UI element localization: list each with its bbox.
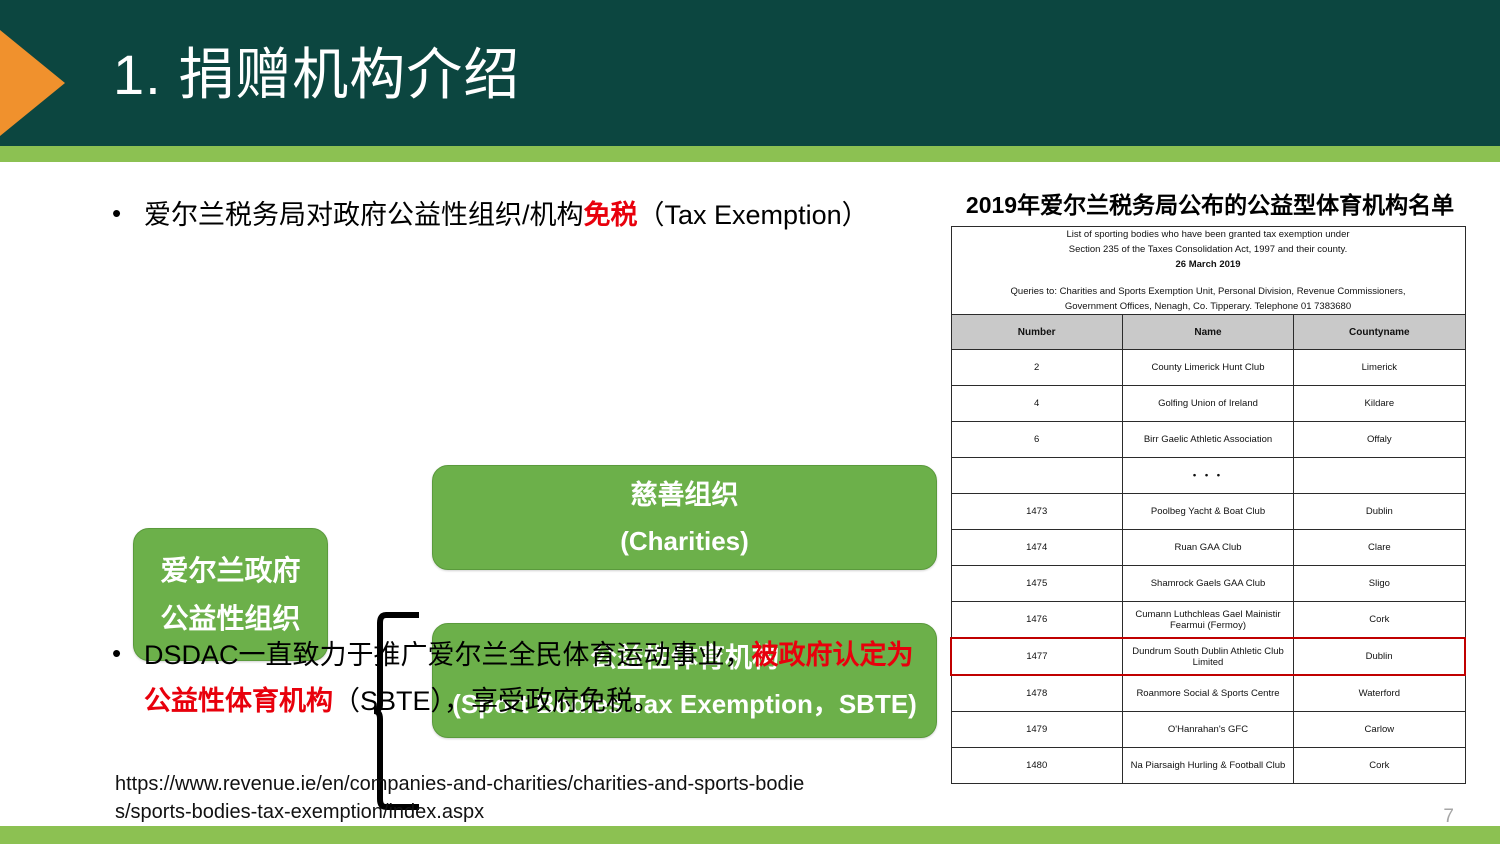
table-row: 1475Shamrock Gaels GAA ClubSligo xyxy=(951,566,1465,602)
cell-number: 2 xyxy=(951,350,1122,386)
cell-name: Poolbeg Yacht & Boat Club xyxy=(1122,494,1293,530)
cell-name: County Limerick Hunt Club xyxy=(1122,350,1293,386)
cell-countyname xyxy=(1294,458,1465,494)
chevron-right-icon xyxy=(0,30,65,136)
cell-countyname: Offaly xyxy=(1294,422,1465,458)
table-row: 6Birr Gaelic Athletic AssociationOffaly xyxy=(951,422,1465,458)
intro-line-2: Section 235 of the Taxes Consolidation A… xyxy=(1069,244,1348,255)
header-accent-bar xyxy=(0,146,1500,162)
bullet1-tail: （Tax Exemption） xyxy=(638,200,869,230)
intro-line-4: Queries to: Charities and Sports Exempti… xyxy=(1011,286,1406,297)
cell-countyname: Kildare xyxy=(1294,386,1465,422)
table-row: • • • xyxy=(951,458,1465,494)
slide-header-band: 1. 捐赠机构介绍 xyxy=(0,0,1500,146)
cell-number: 1474 xyxy=(951,530,1122,566)
table-intro-row: List of sporting bodies who have been gr… xyxy=(951,227,1465,315)
footer-accent-bar xyxy=(0,826,1500,844)
bullet2-tail: （SBTE），享受政府免税。 xyxy=(333,686,660,716)
bullet1-lead: 爱尔兰税务局对政府公益性组织/机构 xyxy=(144,200,584,230)
cell-number: 4 xyxy=(951,386,1122,422)
cell-countyname: Dublin xyxy=(1294,638,1465,675)
cell-name: Cumann Luthchleas Gael Mainistir Fearmui… xyxy=(1122,602,1293,639)
cell-number: 6 xyxy=(951,422,1122,458)
cell-name: Roanmore Social & Sports Centre xyxy=(1122,675,1293,712)
intro-spacer xyxy=(952,272,1465,284)
bullet-text-dsdac: DSDAC一直致力于推广爱尔兰全民体育运动事业，被政府认定为公益性体育机构（SB… xyxy=(144,632,930,724)
cell-name: Golfing Union of Ireland xyxy=(1122,386,1293,422)
bullet1-highlight: 免税 xyxy=(584,200,638,230)
column-header-countyname: Countyname xyxy=(1294,315,1465,350)
bullet-item-tax-exemption: • 爱尔兰税务局对政府公益性组织/机构免税（Tax Exemption） xyxy=(100,192,940,238)
page-title: 1. 捐赠机构介绍 xyxy=(113,32,520,118)
diagram-box-charities-en: (Charities) xyxy=(620,518,749,564)
diagram-box-charities-zh: 慈善组织 xyxy=(631,472,739,518)
intro-line-3-date: 26 March 2019 xyxy=(1176,259,1241,270)
table-intro-cell: List of sporting bodies who have been gr… xyxy=(951,227,1465,315)
cell-name: Na Piarsaigh Hurling & Football Club xyxy=(1122,748,1293,784)
cell-name: Dundrum South Dublin Athletic Club Limit… xyxy=(1122,638,1293,675)
page-number: 7 xyxy=(1443,806,1454,828)
revenue-sporting-bodies-table: List of sporting bodies who have been gr… xyxy=(950,226,1466,784)
diagram-box-government-line1: 爱尔兰政府 xyxy=(160,547,300,595)
cell-ellipsis: • • • xyxy=(1122,458,1293,494)
diagram-box-charities: 慈善组织 (Charities) xyxy=(432,465,937,570)
cell-number: 1473 xyxy=(951,494,1122,530)
table-row: 2County Limerick Hunt ClubLimerick xyxy=(951,350,1465,386)
table-row: 1477Dundrum South Dublin Athletic Club L… xyxy=(951,638,1465,675)
cell-number: 1480 xyxy=(951,748,1122,784)
revenue-table-wrapper: List of sporting bodies who have been gr… xyxy=(950,226,1466,784)
table-row: 1478Roanmore Social & Sports CentreWater… xyxy=(951,675,1465,712)
cell-name: Ruan GAA Club xyxy=(1122,530,1293,566)
cell-number xyxy=(951,458,1122,494)
table-row: 1474Ruan GAA ClubClare xyxy=(951,530,1465,566)
table-row: 1480Na Piarsaigh Hurling & Football Club… xyxy=(951,748,1465,784)
cell-name: Birr Gaelic Athletic Association xyxy=(1122,422,1293,458)
revenue-table-rows: 2County Limerick Hunt ClubLimerick4Golfi… xyxy=(951,350,1465,784)
cell-number: 1478 xyxy=(951,675,1122,712)
cell-countyname: Clare xyxy=(1294,530,1465,566)
cell-number: 1475 xyxy=(951,566,1122,602)
table-row: 1476Cumann Luthchleas Gael Mainistir Fea… xyxy=(951,602,1465,639)
column-header-name: Name xyxy=(1122,315,1293,350)
table-row: 4Golfing Union of IrelandKildare xyxy=(951,386,1465,422)
table-header-row: Number Name Countyname xyxy=(951,315,1465,350)
table-title: 2019年爱尔兰税务局公布的公益型体育机构名单 xyxy=(952,186,1468,220)
table-row: 1479O'Hanrahan's GFCCarlow xyxy=(951,712,1465,748)
source-url-link[interactable]: https://www.revenue.ie/en/companies-and-… xyxy=(115,770,815,826)
cell-name: Shamrock Gaels GAA Club xyxy=(1122,566,1293,602)
column-header-number: Number xyxy=(951,315,1122,350)
cell-number: 1477 xyxy=(951,638,1122,675)
cell-countyname: Cork xyxy=(1294,602,1465,639)
cell-name: O'Hanrahan's GFC xyxy=(1122,712,1293,748)
slide-root: 1. 捐赠机构介绍 • 爱尔兰税务局对政府公益性组织/机构免税（Tax Exem… xyxy=(0,0,1500,844)
cell-countyname: Dublin xyxy=(1294,494,1465,530)
cell-number: 1476 xyxy=(951,602,1122,639)
cell-number: 1479 xyxy=(951,712,1122,748)
org-structure-diagram: 爱尔兰政府 公益性组织 慈善组织 (Charities) 公益性体育机构 (Sp… xyxy=(0,280,945,570)
intro-line-1: List of sporting bodies who have been gr… xyxy=(1066,229,1349,240)
cell-countyname: Limerick xyxy=(1294,350,1465,386)
bullet-text-tax-exemption: 爱尔兰税务局对政府公益性组织/机构免税（Tax Exemption） xyxy=(144,192,940,238)
intro-line-5: Government Offices, Nenagh, Co. Tipperar… xyxy=(1065,301,1351,312)
cell-countyname: Cork xyxy=(1294,748,1465,784)
revenue-table-body: List of sporting bodies who have been gr… xyxy=(951,227,1465,350)
left-content-column: • 爱尔兰税务局对政府公益性组织/机构免税（Tax Exemption） 爱尔兰… xyxy=(0,170,945,825)
cell-countyname: Waterford xyxy=(1294,675,1465,712)
bullet-item-dsdac: • DSDAC一直致力于推广爱尔兰全民体育运动事业，被政府认定为公益性体育机构（… xyxy=(100,632,930,724)
table-row: 1473Poolbeg Yacht & Boat ClubDublin xyxy=(951,494,1465,530)
bullet2-lead: DSDAC一直致力于推广爱尔兰全民体育运动事业， xyxy=(144,640,752,670)
cell-countyname: Sligo xyxy=(1294,566,1465,602)
bullet-marker-icon-2: • xyxy=(100,632,144,674)
cell-countyname: Carlow xyxy=(1294,712,1465,748)
bullet-marker-icon: • xyxy=(100,192,144,234)
